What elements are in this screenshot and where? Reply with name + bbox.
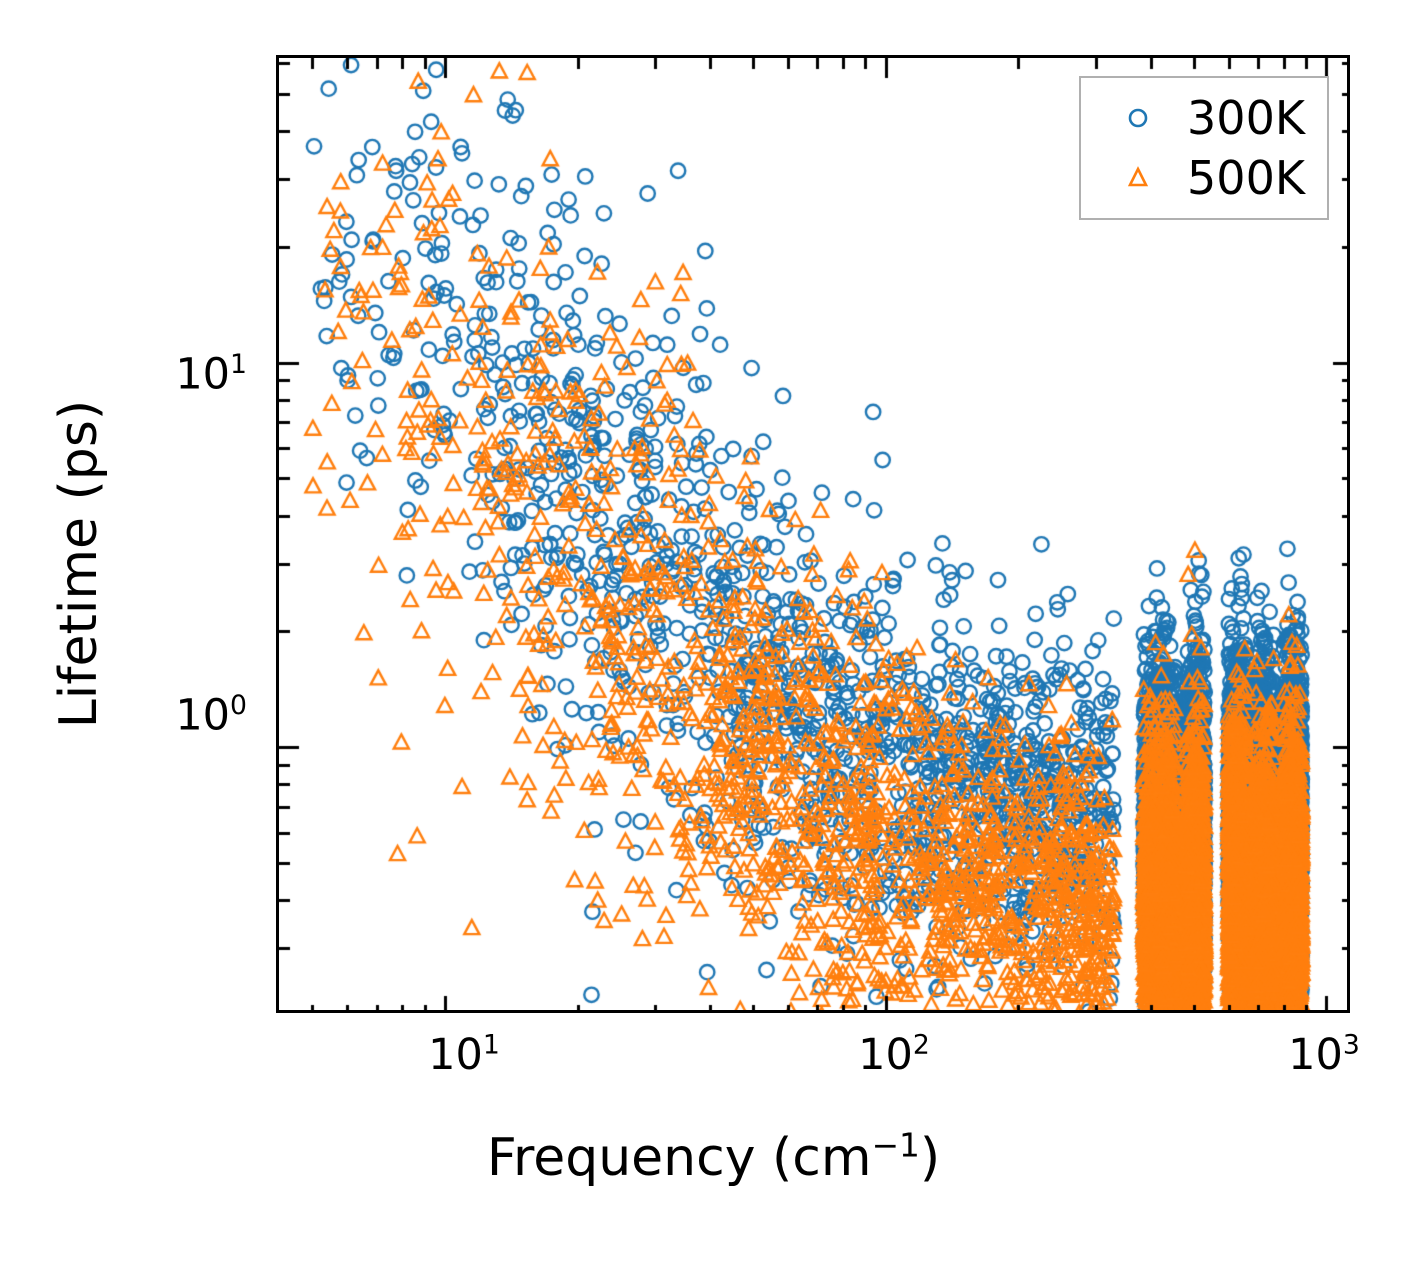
y-tick-label-10e0: 100: [175, 695, 247, 738]
circle-open-icon: [1095, 103, 1181, 133]
figure-canvas: 300K 500K 101 100 101 102 103 Frequency …: [0, 0, 1427, 1265]
x-tick-label-10e1: 101: [428, 1034, 500, 1077]
triangle-open-icon: [1095, 163, 1181, 193]
x-axis-title: Frequency (cm−1): [0, 1128, 1427, 1188]
legend-label-500k: 500K: [1181, 151, 1305, 205]
y-axis-title: Lifetime (ps): [49, 85, 109, 1043]
plot-area: 300K 500K: [276, 55, 1350, 1013]
legend-box: 300K 500K: [1079, 76, 1329, 220]
legend-item-300k: 300K: [1095, 88, 1305, 148]
y-tick-label-10e1: 101: [175, 354, 247, 397]
x-tick-label-10e3: 103: [1288, 1034, 1360, 1077]
legend-label-300k: 300K: [1181, 91, 1305, 145]
legend-item-500k: 500K: [1095, 148, 1305, 208]
x-tick-label-10e2: 102: [858, 1034, 930, 1077]
